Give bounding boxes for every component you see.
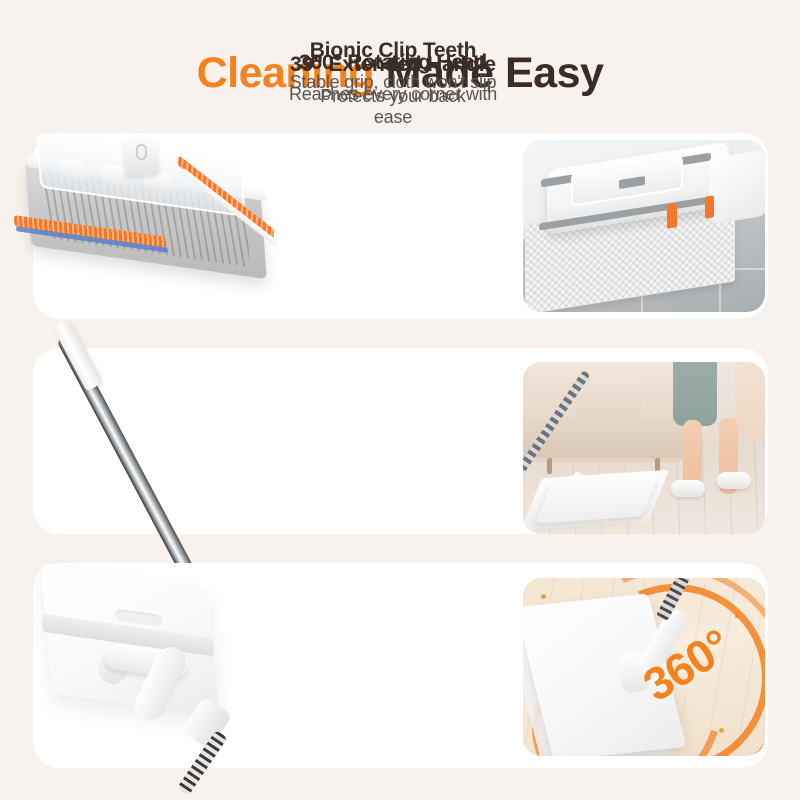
feature-text-rotating-head: 360° Rotating Head Reaches every corner … (282, 50, 504, 129)
mop-head-underside-image (6, 134, 296, 324)
feature-subtitle: Reaches every corner with ease (282, 83, 504, 129)
feature-title: 360° Rotating Head (282, 50, 504, 76)
swivel-joint-mop-head-image (30, 570, 310, 795)
extended-handle-image (34, 330, 304, 580)
product-infographic: { "header": { "title_accent": "Cleaning"… (0, 0, 800, 800)
rotating-head-photo: 360° (523, 578, 765, 756)
cloth-clamp-photo (523, 140, 765, 312)
mopping-living-room-photo (523, 362, 765, 534)
